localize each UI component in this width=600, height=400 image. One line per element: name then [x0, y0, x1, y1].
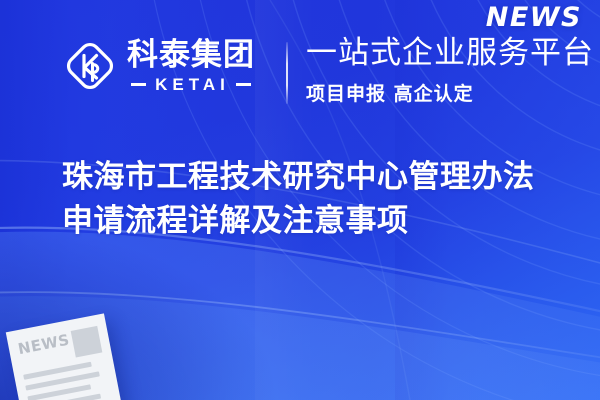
brand-logo[interactable]: 科泰集团 KETAI [62, 38, 255, 94]
news-badge: NEWS [486, 2, 582, 33]
tagline-sub: 项目申报 高企认定 [306, 79, 594, 106]
ketai-diamond-kp-logo-icon [62, 38, 118, 94]
banner-header: 科泰集团 KETAI 一站式企业服务平台 项目申报 高企认定 [0, 30, 600, 116]
news-banner: 科泰集团 KETAI 一站式企业服务平台 项目申报 高企认定 NEWS 珠海市工… [0, 0, 600, 400]
header-divider [286, 42, 288, 104]
logo-company-name-en: KETAI [131, 76, 251, 93]
tagline-block: 一站式企业服务平台 项目申报 高企认定 [306, 34, 594, 106]
logo-dash-right [236, 83, 251, 86]
logo-company-name-cn: 科泰集团 [127, 40, 255, 71]
logo-dash-left [131, 83, 146, 86]
tagline-main: 一站式企业服务平台 [306, 34, 594, 73]
newspaper-card-title: NEWS [17, 331, 72, 359]
page-title: 珠海市工程技术研究中心管理办法 申请流程详解及注意事项 [62, 155, 562, 243]
logo-en-text: KETAI [152, 76, 230, 93]
page-title-line-2: 申请流程详解及注意事项 [62, 199, 562, 243]
page-title-line-1: 珠海市工程技术研究中心管理办法 [62, 155, 562, 199]
newspaper-thumbnail-icon [71, 326, 103, 358]
newspaper-text-lines [23, 359, 111, 400]
